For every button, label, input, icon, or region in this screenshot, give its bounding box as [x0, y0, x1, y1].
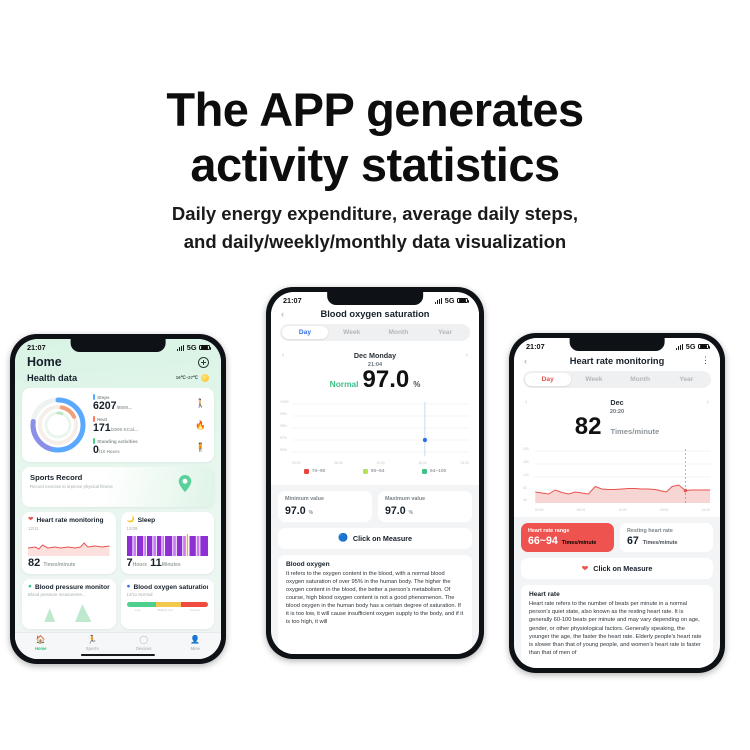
tab-devices[interactable]: ◯ Devices [118, 636, 170, 651]
signal-icon [676, 344, 683, 350]
notch [71, 339, 166, 352]
card-unit: Times/minute [643, 540, 678, 546]
card-number: 82 [28, 557, 40, 569]
period-segment-wrap: Day Week Month Year [271, 324, 479, 348]
drop-icon: ● [127, 584, 131, 591]
heart-rate-reading: 82 Times/minute [514, 415, 720, 442]
y-tick: 100% [280, 400, 289, 404]
metric-goal: /10 Hours [99, 449, 120, 454]
metric-goal: /2000 KCal... [111, 427, 138, 432]
period-segmented-control: Day Week Month Year [280, 324, 470, 341]
sleep-bar-chart [127, 534, 209, 556]
page-title: The APP generates activity statistics [0, 82, 750, 193]
home-indicator [81, 654, 155, 657]
nav-bar: ‹ Blood oxygen saturation [271, 306, 479, 324]
card-value: 7Hours 11Minutes [127, 558, 209, 569]
card-value: 82 Times/minute [28, 558, 110, 569]
network-label: 5G [445, 296, 455, 305]
heart-rate-stat-cards: Heart rate range 66~94 Times/minute Rest… [514, 523, 720, 552]
device-icon: ◯ [118, 636, 170, 644]
spo2-icon: 🔵 [338, 534, 348, 542]
x-tick: 24:00 [461, 461, 470, 465]
card-label: Minimum value [285, 496, 365, 503]
phone-center: 21:07 5G ‹ Blood oxygen saturation Day [266, 287, 484, 659]
heart-rate-value: 82 [575, 415, 602, 439]
y-tick: 160 [523, 460, 529, 464]
home-title: Home [27, 355, 62, 369]
x-axis-labels: 00:00 06:00 12:00 18:00 24:00 [522, 507, 712, 512]
location-pin-icon [178, 475, 192, 492]
bp-icon: ● [28, 584, 32, 591]
network-label: 5G [187, 343, 197, 352]
tab-label: Home [15, 646, 67, 651]
moon-icon: 🌙 [127, 517, 135, 524]
x-tick: 24:00 [702, 508, 711, 512]
phone-right-screen: 21:07 5G ‹ Heart rate monitoring ⋮ Day [514, 338, 720, 668]
card-subtitle: Blood pressure measureme... [28, 592, 110, 597]
spo2-chart-card: 100% 99% 98% 97% 96% 00:00 06:00 12:00 1… [271, 395, 479, 485]
x-tick: 12:00 [376, 461, 385, 465]
battery-icon [199, 345, 210, 351]
promo-page: The APP generates activity statistics Da… [0, 0, 750, 750]
legend-label: 70~90 [312, 469, 325, 474]
heart-rate-card[interactable]: ❤ Heart rate monitoring 12/11 82 Times/m… [22, 512, 116, 574]
card-number: 97.0 [385, 505, 406, 517]
tab-home[interactable]: 🏠 Home [15, 636, 67, 651]
heart-rate-chart-card: 200 160 120 80 40 00:00 06:00 12:00 18:0… [514, 442, 720, 517]
card-value: 66~94 [528, 535, 558, 547]
sports-record-card[interactable]: Sports Record Record exercise to improve… [22, 467, 214, 507]
segment-month[interactable]: Month [375, 326, 422, 340]
info-card: Heart rate Heart rate refers to the numb… [521, 585, 713, 668]
notch [327, 292, 423, 305]
tab-label: Mine [170, 646, 222, 651]
spo2-unit: % [413, 380, 420, 389]
card-unit: Hours [133, 562, 147, 568]
legend-item: 94~100 [422, 469, 446, 474]
period-segmented-control: Day Week Month Year [523, 371, 711, 388]
info-body: It refers to the oxygen content in the b… [286, 570, 464, 627]
card-unit: Times/minute [562, 540, 597, 546]
health-data-row: Health data 16℃~27℃ [15, 373, 221, 388]
x-tick: 06:00 [577, 508, 586, 512]
card-unit: % [409, 510, 413, 516]
card-label: Maximum value [385, 496, 465, 503]
nav-bar: ‹ Heart rate monitoring ⋮ [514, 352, 720, 371]
heart-rate-range-card: Heart rate range 66~94 Times/minute [521, 523, 614, 552]
info-title: Blood oxygen [286, 561, 464, 568]
spo2-range-bar [127, 602, 209, 607]
y-tick: 40 [523, 498, 527, 502]
card-unit-2: Minutes [162, 562, 181, 568]
phone-right: 21:07 5G ‹ Heart rate monitoring ⋮ Day [509, 333, 725, 673]
minmax-cards: Minimum value 97.0 % Maximum value 97.0 … [271, 491, 479, 522]
metric-number: 6207 [93, 400, 117, 412]
summary-cards-row-2: ● Blood pressure monitoring Blood pressu… [22, 579, 214, 630]
next-date-icon[interactable]: › [466, 352, 468, 359]
card-unit: % [309, 510, 313, 516]
segment-year[interactable]: Year [422, 326, 469, 340]
info-body: Heart rate refers to the number of beats… [529, 600, 705, 657]
home-icon: 🏠 [15, 636, 67, 644]
metric-value: 6207/8000... [93, 401, 191, 412]
status-badge: Normal [330, 379, 359, 389]
info-title: Heart rate [529, 591, 705, 598]
activity-rings-chart [27, 394, 89, 456]
measure-button-label: Click on Measure [353, 534, 412, 543]
card-number-2: 11 [150, 557, 162, 569]
home-title-row: Home [15, 353, 221, 373]
minimum-value-card: Minimum value 97.0 % [278, 491, 372, 522]
range-tick: Slightly low [157, 608, 172, 612]
period-segment-wrap: Day Week Month Year [514, 371, 720, 395]
card-value: 97.0 % [285, 505, 365, 517]
prev-date-icon[interactable]: ‹ [525, 399, 527, 406]
bp-sparkline [28, 600, 110, 622]
metric-value: 0/10 Hours [93, 445, 191, 456]
plus-circle-icon[interactable] [198, 357, 209, 368]
heart-rate-sparkline [28, 534, 110, 556]
sun-icon [201, 374, 209, 382]
flame-icon: 🔥 [195, 421, 206, 430]
summary-cards-row: ❤ Heart rate monitoring 12/11 82 Times/m… [22, 512, 214, 574]
heart-icon: ❤ [582, 565, 589, 573]
measure-button-label: Click on Measure [593, 564, 652, 573]
date-selector: ‹ Dec › [514, 395, 720, 407]
card-date: 12/09 [127, 526, 209, 531]
spo2-screen: 21:07 5G ‹ Blood oxygen saturation Day [271, 292, 479, 654]
card-title: Blood pressure monitoring [35, 584, 110, 591]
spo2-value: 97.0 [363, 368, 410, 392]
phone-center-screen: 21:07 5G ‹ Blood oxygen saturation Day [271, 292, 479, 654]
spo2-reading: Normal 97.0 % [271, 368, 479, 395]
metric-label: Standing activities [97, 439, 138, 444]
chevron-left-icon[interactable]: ‹ [524, 356, 536, 366]
walk-icon: 🚶 [195, 399, 206, 408]
metric-row: Steps 6207/8000... 🚶 [93, 394, 206, 412]
status-time: 21:07 [27, 343, 46, 352]
notch [570, 338, 665, 351]
current-date: Dec Monday [354, 351, 396, 360]
x-tick: 18:00 [660, 508, 669, 512]
prev-date-icon[interactable]: ‹ [282, 352, 284, 359]
card-title: Blood oxygen saturation [133, 584, 208, 591]
status-indicators: 5G [676, 342, 709, 351]
heart-rate-chart: 200 160 120 80 40 [522, 445, 712, 507]
card-label: Resting heart rate [627, 528, 706, 535]
status-indicators: 5G [435, 296, 468, 305]
legend-label: 90~94 [371, 469, 384, 474]
tab-label: Sports [67, 646, 119, 651]
x-tick: 00:00 [292, 461, 301, 465]
subtitle-line-1: Daily energy expenditure, average daily … [0, 200, 750, 228]
legend-item: 90~94 [363, 469, 384, 474]
tab-sports[interactable]: 🏃 Sports [67, 636, 119, 651]
battery-icon [457, 298, 468, 304]
resting-heart-rate-card: Resting heart rate 67 Times/minute [620, 523, 713, 552]
headline-line-1: The APP generates [166, 83, 583, 136]
segment-year[interactable]: Year [663, 373, 709, 387]
card-subtitle: 12/11 Normal [127, 592, 209, 597]
more-vertical-icon[interactable]: ⋮ [698, 355, 710, 366]
current-date: Dec [610, 398, 623, 407]
card-value: 97.0 % [385, 505, 465, 517]
signal-icon [435, 298, 442, 304]
segment-day[interactable]: Day [525, 373, 571, 387]
tab-label: Devices [118, 646, 170, 651]
chevron-left-icon[interactable]: ‹ [281, 309, 293, 319]
measure-button[interactable]: ❤ Click on Measure [521, 558, 713, 579]
health-data-title: Health data [27, 373, 77, 383]
metrics-list: Steps 6207/8000... 🚶 Heat [93, 394, 206, 456]
y-tick: 96% [280, 448, 287, 452]
home-header: 21:07 5G Home Health data 16℃~27℃ [15, 339, 221, 640]
x-tick: 12:00 [618, 508, 627, 512]
y-tick: 120 [523, 473, 529, 477]
heart-rate-screen: 21:07 5G ‹ Heart rate monitoring ⋮ Day [514, 338, 720, 668]
activity-rings-card[interactable]: Steps 6207/8000... 🚶 Heat [22, 388, 214, 462]
y-tick: 97% [280, 436, 287, 440]
card-title: Heart rate monitoring [36, 517, 103, 524]
metric-row: Heat 171/2000 KCal... 🔥 [93, 416, 206, 434]
y-tick: 200 [523, 447, 529, 451]
blood-pressure-card[interactable]: ● Blood pressure monitoring Blood pressu… [22, 579, 116, 630]
x-tick: 18:00 [418, 461, 427, 465]
blood-oxygen-card[interactable]: ● Blood oxygen saturation 12/11 Normal L… [121, 579, 215, 630]
segment-week[interactable]: Week [328, 326, 375, 340]
signal-icon [177, 345, 184, 351]
info-card: Blood oxygen It refers to the oxygen con… [278, 555, 472, 654]
network-label: 5G [686, 342, 696, 351]
x-tick: 06:00 [334, 461, 343, 465]
headline-line-2: activity statistics [0, 137, 750, 192]
person-icon: 👤 [170, 636, 222, 644]
spo2-chart: 100% 99% 98% 97% 96% [279, 398, 471, 460]
metric-number: 171 [93, 422, 111, 434]
range-tick: Normal [190, 608, 200, 612]
status-indicators: 5G [177, 343, 210, 352]
y-tick: 98% [280, 424, 287, 428]
next-date-icon[interactable]: › [707, 399, 709, 406]
screen-title: Heart rate monitoring [536, 356, 698, 366]
battery-icon [698, 344, 709, 350]
subtitle-line-2: and daily/weekly/monthly data visualizat… [0, 228, 750, 256]
card-date: 12/11 [28, 526, 110, 531]
weather-temp: 16℃~27℃ [176, 375, 198, 381]
measure-button[interactable]: 🔵 Click on Measure [278, 528, 472, 549]
sleep-card[interactable]: 🌙 Sleep 12/09 [121, 512, 215, 574]
y-tick: 80 [523, 486, 527, 490]
measurement-time: 20:20 [514, 407, 720, 415]
card-title: Sleep [138, 517, 156, 524]
date-selector: ‹ Dec Monday › [271, 348, 479, 360]
chart-legend: 70~90 90~94 94~100 [279, 465, 471, 480]
card-label: Heart rate range [528, 528, 607, 535]
segment-week[interactable]: Week [571, 373, 617, 387]
x-tick: 00:00 [535, 508, 544, 512]
y-tick: 99% [280, 412, 287, 416]
segment-day[interactable]: Day [282, 326, 329, 340]
screen-title: Blood oxygen saturation [293, 309, 457, 319]
tab-mine[interactable]: 👤 Mine [170, 636, 222, 651]
range-tick: Low [135, 608, 141, 612]
card-unit: Times/minute [43, 562, 75, 568]
status-time: 21:07 [526, 342, 545, 351]
heart-rate-unit: Times/minute [610, 427, 659, 436]
metric-goal: /8000... [117, 405, 132, 410]
phone-left-screen: 21:07 5G Home Health data 16℃~27℃ [15, 339, 221, 659]
segment-month[interactable]: Month [617, 373, 663, 387]
page-subtitle: Daily energy expenditure, average daily … [0, 200, 750, 256]
heart-icon: ❤ [28, 517, 33, 524]
card-value: 67 [627, 535, 639, 547]
metric-value: 171/2000 KCal... [93, 423, 191, 434]
legend-item: 70~90 [304, 469, 325, 474]
phone-left: 21:07 5G Home Health data 16℃~27℃ [10, 334, 226, 664]
legend-label: 94~100 [430, 469, 446, 474]
weather-widget: 16℃~27℃ [176, 374, 209, 382]
metric-row: Standing activities 0/10 Hours 🧍 [93, 438, 206, 456]
stand-icon: 🧍 [195, 443, 206, 452]
spo2-range-ticks: Low Slightly low Normal [127, 608, 209, 612]
card-number: 97.0 [285, 505, 306, 517]
maximum-value-card: Maximum value 97.0 % [378, 491, 472, 522]
status-time: 21:07 [283, 296, 302, 305]
sports-icon: 🏃 [67, 636, 119, 644]
